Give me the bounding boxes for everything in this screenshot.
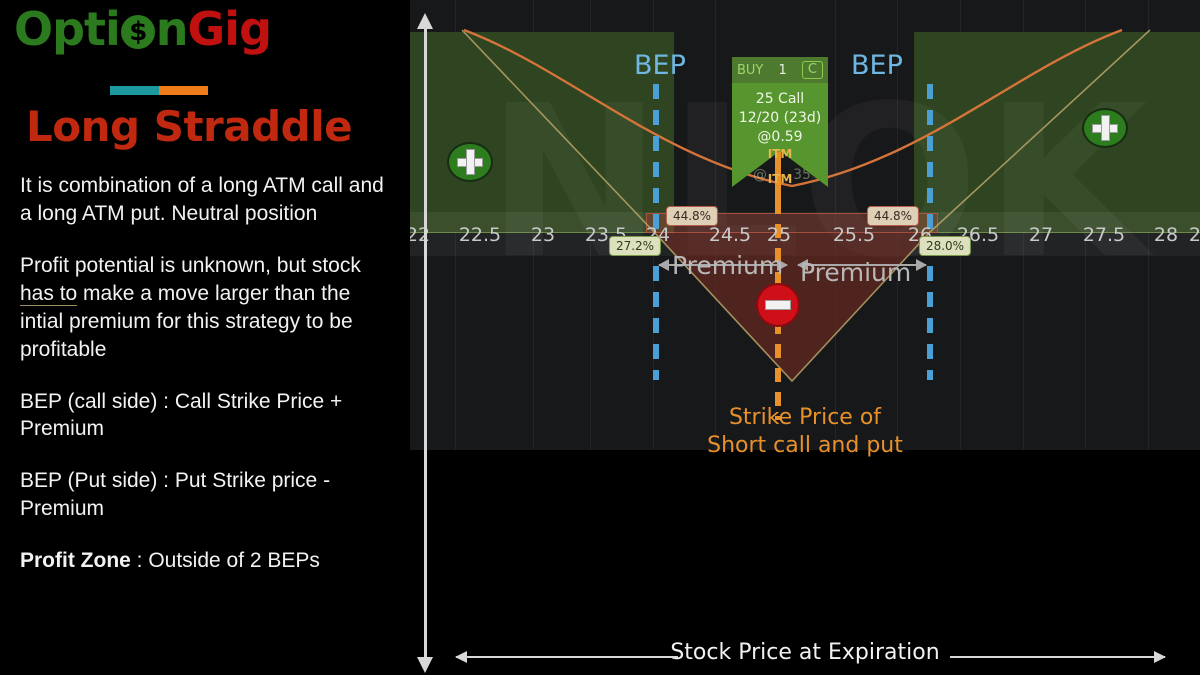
option-badge-body: 25 Call 12/20 (23d) @0.59 xyxy=(732,83,828,151)
brand-divider xyxy=(110,86,208,95)
premium-label-right: Premium xyxy=(800,258,911,287)
slide-body-text: It is combination of a long ATM call and… xyxy=(20,172,395,599)
profit-zone-text: : Outside of 2 BEPs xyxy=(131,549,320,572)
probability-badge: 28.0% xyxy=(919,236,971,256)
paragraph-bep-put: BEP (Put side) : Put Strike price - Prem… xyxy=(20,467,395,523)
bep-label-lower: BEP xyxy=(634,50,686,81)
page-title: Long Straddle xyxy=(26,104,352,150)
strike-caption-line1: Strike Price of xyxy=(410,404,1200,432)
plus-bar-vertical xyxy=(1101,115,1110,141)
profit-marker-right-icon xyxy=(1082,108,1128,148)
left-content-panel: Opti$nGig Long Straddle It is combinatio… xyxy=(0,0,410,675)
paragraph-definition: It is combination of a long ATM call and… xyxy=(20,172,395,228)
plus-bar-vertical xyxy=(466,149,475,175)
x-tick: 25 xyxy=(767,224,791,246)
itm-label-bottom: ITM xyxy=(768,172,793,186)
minus-bar xyxy=(765,300,791,310)
option-quantity-label: 1 xyxy=(779,63,787,78)
divider-orange-segment xyxy=(159,86,208,95)
y-axis-arrow xyxy=(424,28,427,658)
option-side-label: BUY xyxy=(737,63,763,78)
bep-label-upper: BEP xyxy=(851,50,903,81)
paragraph-bep-call: BEP (call side) : Call Strike Price + Pr… xyxy=(20,388,395,444)
chart-area: NLOK BEP BEP 22 22.5 23 23.5 xyxy=(410,0,1200,675)
x-axis-arrow-right xyxy=(950,656,1165,658)
loss-marker-icon xyxy=(756,283,800,327)
logo-text-option-part1: Opti xyxy=(14,2,120,56)
x-tick: 27 xyxy=(1029,224,1053,246)
x-axis-arrow-left xyxy=(456,656,678,658)
brand-logo: Opti$nGig xyxy=(14,6,271,52)
option-expiry-line: 12/20 (23d) xyxy=(732,109,828,128)
x-tick: 22 xyxy=(410,224,430,246)
x-tick: 25.5 xyxy=(833,224,875,246)
option-type-code: C xyxy=(802,61,823,79)
dollar-coin-icon: $ xyxy=(121,15,155,49)
itm-label-top: ITM xyxy=(768,147,793,161)
p2-pre: Profit potential is unknown, but stock xyxy=(20,254,361,277)
option-price-line: @0.59 xyxy=(732,128,828,147)
payoff-diagram-panel: NLOK BEP BEP 22 22.5 23 23.5 xyxy=(410,0,1200,450)
profit-marker-left-icon xyxy=(447,142,493,182)
x-tick: 23 xyxy=(531,224,555,246)
x-tick: 28 xyxy=(1154,224,1178,246)
x-tick: 28.5 xyxy=(1189,224,1200,246)
dollar-glyph: $ xyxy=(121,15,155,49)
probability-badge: 44.8% xyxy=(867,206,919,226)
probability-badge: 44.8% xyxy=(666,206,718,226)
x-tick: 27.5 xyxy=(1083,224,1125,246)
option-strike-line: 25 Call xyxy=(732,90,828,109)
slide-root: Opti$nGig Long Straddle It is combinatio… xyxy=(0,0,1200,675)
probability-badge: 27.2% xyxy=(609,236,661,256)
x-axis-label: Stock Price at Expiration xyxy=(410,640,1200,665)
logo-text-option-part2: n xyxy=(156,2,188,56)
strike-caption-line2: Short call and put xyxy=(410,432,1200,460)
strike-price-caption: Strike Price of Short call and put xyxy=(410,404,1200,459)
logo-text-gig: Gig xyxy=(188,2,271,56)
paragraph-profit-potential: Profit potential is unknown, but stock h… xyxy=(20,252,395,364)
paragraph-profit-zone: Profit Zone : Outside of 2 BEPs xyxy=(20,547,395,575)
option-position-badge[interactable]: BUY 1 C 25 Call 12/20 (23d) @0.59 xyxy=(732,57,828,187)
profit-zone-label: Profit Zone xyxy=(20,549,131,572)
p2-underlined: has to xyxy=(20,282,77,306)
option-badge-header: BUY 1 C xyxy=(732,57,828,83)
x-tick: 24.5 xyxy=(709,224,751,246)
premium-label-left: Premium xyxy=(672,251,783,280)
x-tick: 22.5 xyxy=(459,224,501,246)
divider-teal-segment xyxy=(110,86,159,95)
